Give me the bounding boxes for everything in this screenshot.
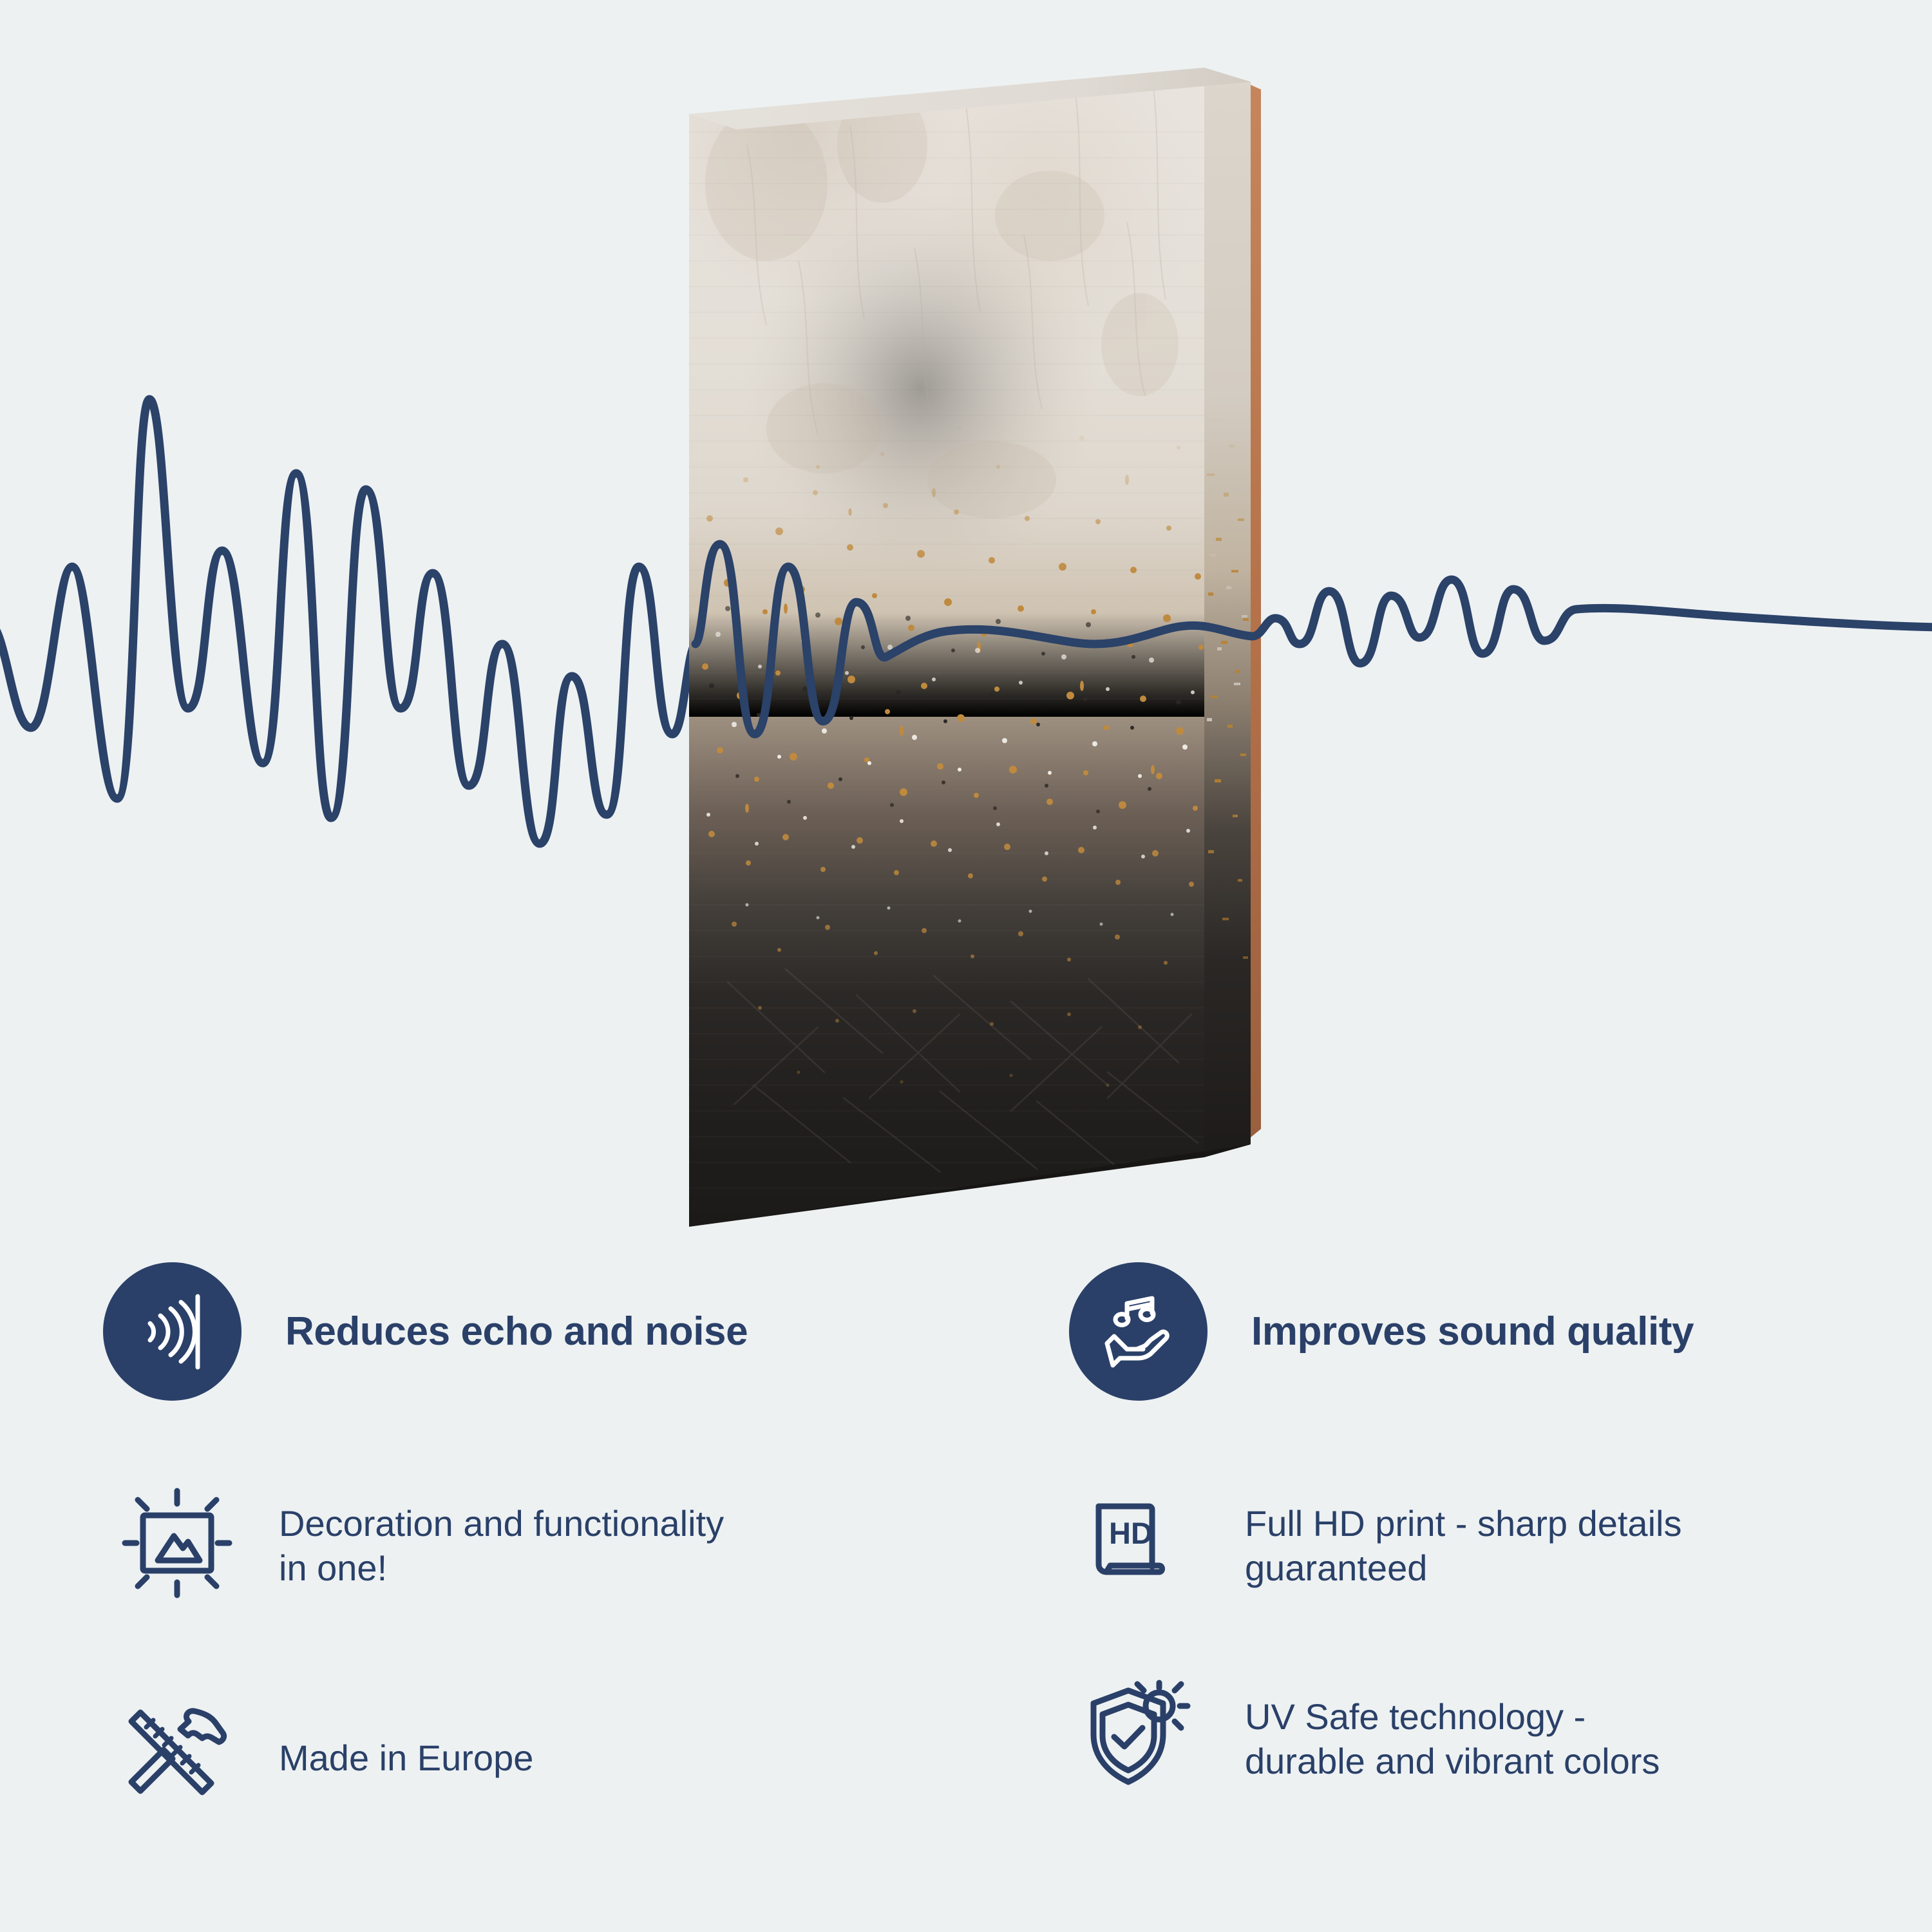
product-canvas-print xyxy=(689,68,1269,1227)
sound-waves-panel-badge xyxy=(103,1262,241,1401)
hd-label: HD xyxy=(1109,1516,1153,1550)
canvas-side-face xyxy=(1204,68,1251,1157)
feature-badge-title-0: Reduces echo and noise xyxy=(285,1309,748,1354)
feature-item-text-2: Made in Europe xyxy=(279,1736,533,1780)
hd-laptop-icon: HD xyxy=(1082,1484,1204,1607)
feature-line: Full HD print - sharp details xyxy=(1245,1501,1681,1546)
feature-badge-title-1: Improves sound quality xyxy=(1251,1309,1694,1354)
feature-item-row: HD Full HD print - sharp details guarant… xyxy=(1079,1481,1681,1610)
hand-music-note-icon xyxy=(1097,1290,1180,1374)
ruler-hammer-icon-wrap xyxy=(113,1694,241,1823)
feature-line: Made in Europe xyxy=(279,1736,533,1780)
hand-music-note-badge xyxy=(1069,1262,1207,1401)
feature-badge-row: Reduces echo and noise xyxy=(103,1262,748,1401)
framed-picture-rays-icon xyxy=(116,1484,238,1607)
feature-item-row: Made in Europe xyxy=(113,1694,533,1823)
sound-waves-panel-icon xyxy=(131,1290,214,1374)
ruler-hammer-icon xyxy=(116,1697,238,1819)
feature-item-row: Decoration and functionality in one! xyxy=(113,1481,724,1610)
feature-item-text-3: UV Safe technology - durable and vibrant… xyxy=(1245,1694,1660,1784)
uv-shield-sun-icon-wrap xyxy=(1079,1674,1207,1803)
hd-laptop-icon-wrap: HD xyxy=(1079,1481,1207,1610)
feature-badge-row: Improves sound quality xyxy=(1069,1262,1694,1401)
feature-line: durable and vibrant colors xyxy=(1245,1739,1660,1783)
features-section: Reduces echo and noise Improves sound qu… xyxy=(0,1224,1932,1932)
waveform-left-path xyxy=(0,399,696,844)
feature-item-row: UV Safe technology - durable and vibrant… xyxy=(1079,1674,1660,1803)
feature-line: in one! xyxy=(279,1546,724,1590)
feature-item-text-0: Decoration and functionality in one! xyxy=(279,1501,724,1591)
feature-line: UV Safe technology - xyxy=(1245,1694,1660,1739)
uv-shield-sun-icon xyxy=(1082,1678,1204,1800)
framed-picture-rays-icon-wrap xyxy=(113,1481,241,1610)
feature-line: guaranteed xyxy=(1245,1546,1681,1590)
feature-item-text-1: Full HD print - sharp details guaranteed xyxy=(1245,1501,1681,1591)
feature-line: Decoration and functionality xyxy=(279,1501,724,1546)
